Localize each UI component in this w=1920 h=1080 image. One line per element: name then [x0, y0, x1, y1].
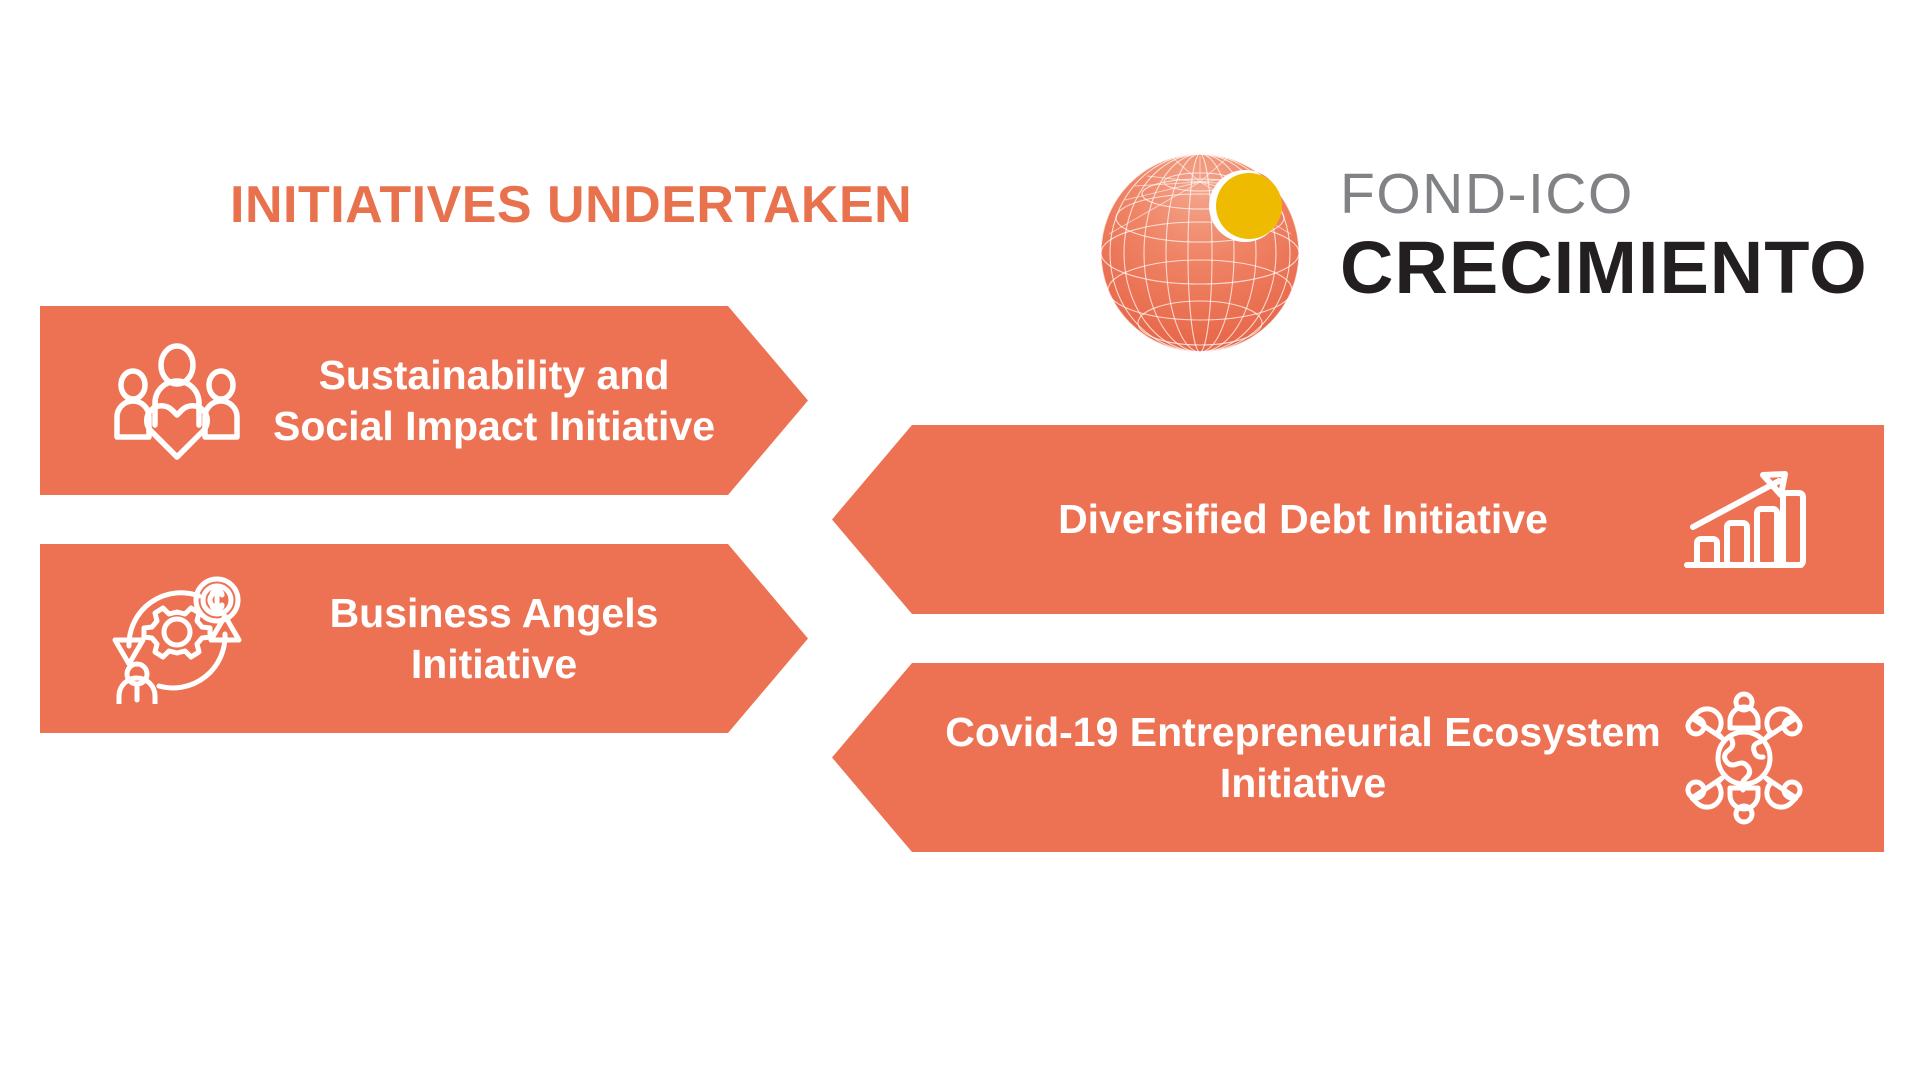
- brand-logo: FOND-ICO CRECIMIENTO: [1095, 148, 1885, 363]
- logo-line-2: CRECIMIENTO: [1340, 229, 1885, 307]
- banner-covid[interactable]: Covid-19 Entrepreneurial Ecosystem Initi…: [832, 663, 1884, 852]
- logo-wordmark: FOND-ICO CRECIMIENTO: [1340, 166, 1885, 307]
- banner-sustainability[interactable]: Sustainability and Social Impact Initiat…: [40, 306, 808, 495]
- banner-label: Sustainability and Social Impact Initiat…: [272, 350, 808, 450]
- circle-dot-icon: [1213, 170, 1285, 242]
- global-network-people-icon: [1664, 688, 1824, 828]
- banner-diversified-debt[interactable]: Diversified Debt Initiative: [832, 425, 1884, 614]
- page-title: INITIATIVES UNDERTAKEN: [230, 175, 912, 235]
- people-heart-icon: [82, 341, 272, 461]
- logo-line-1: FOND-ICO: [1340, 166, 1885, 223]
- banner-label: Covid-19 Entrepreneurial Ecosystem Initi…: [832, 707, 1664, 807]
- banner-business-angels[interactable]: Business Angels Initiative: [40, 544, 808, 733]
- banner-label: Diversified Debt Initiative: [832, 494, 1664, 544]
- banner-label: Business Angels Initiative: [272, 588, 808, 688]
- slide-canvas: INITIATIVES UNDERTAKEN: [0, 0, 1920, 1080]
- growth-bar-chart-icon: [1664, 465, 1824, 575]
- gear-money-cycle-icon: [82, 574, 272, 704]
